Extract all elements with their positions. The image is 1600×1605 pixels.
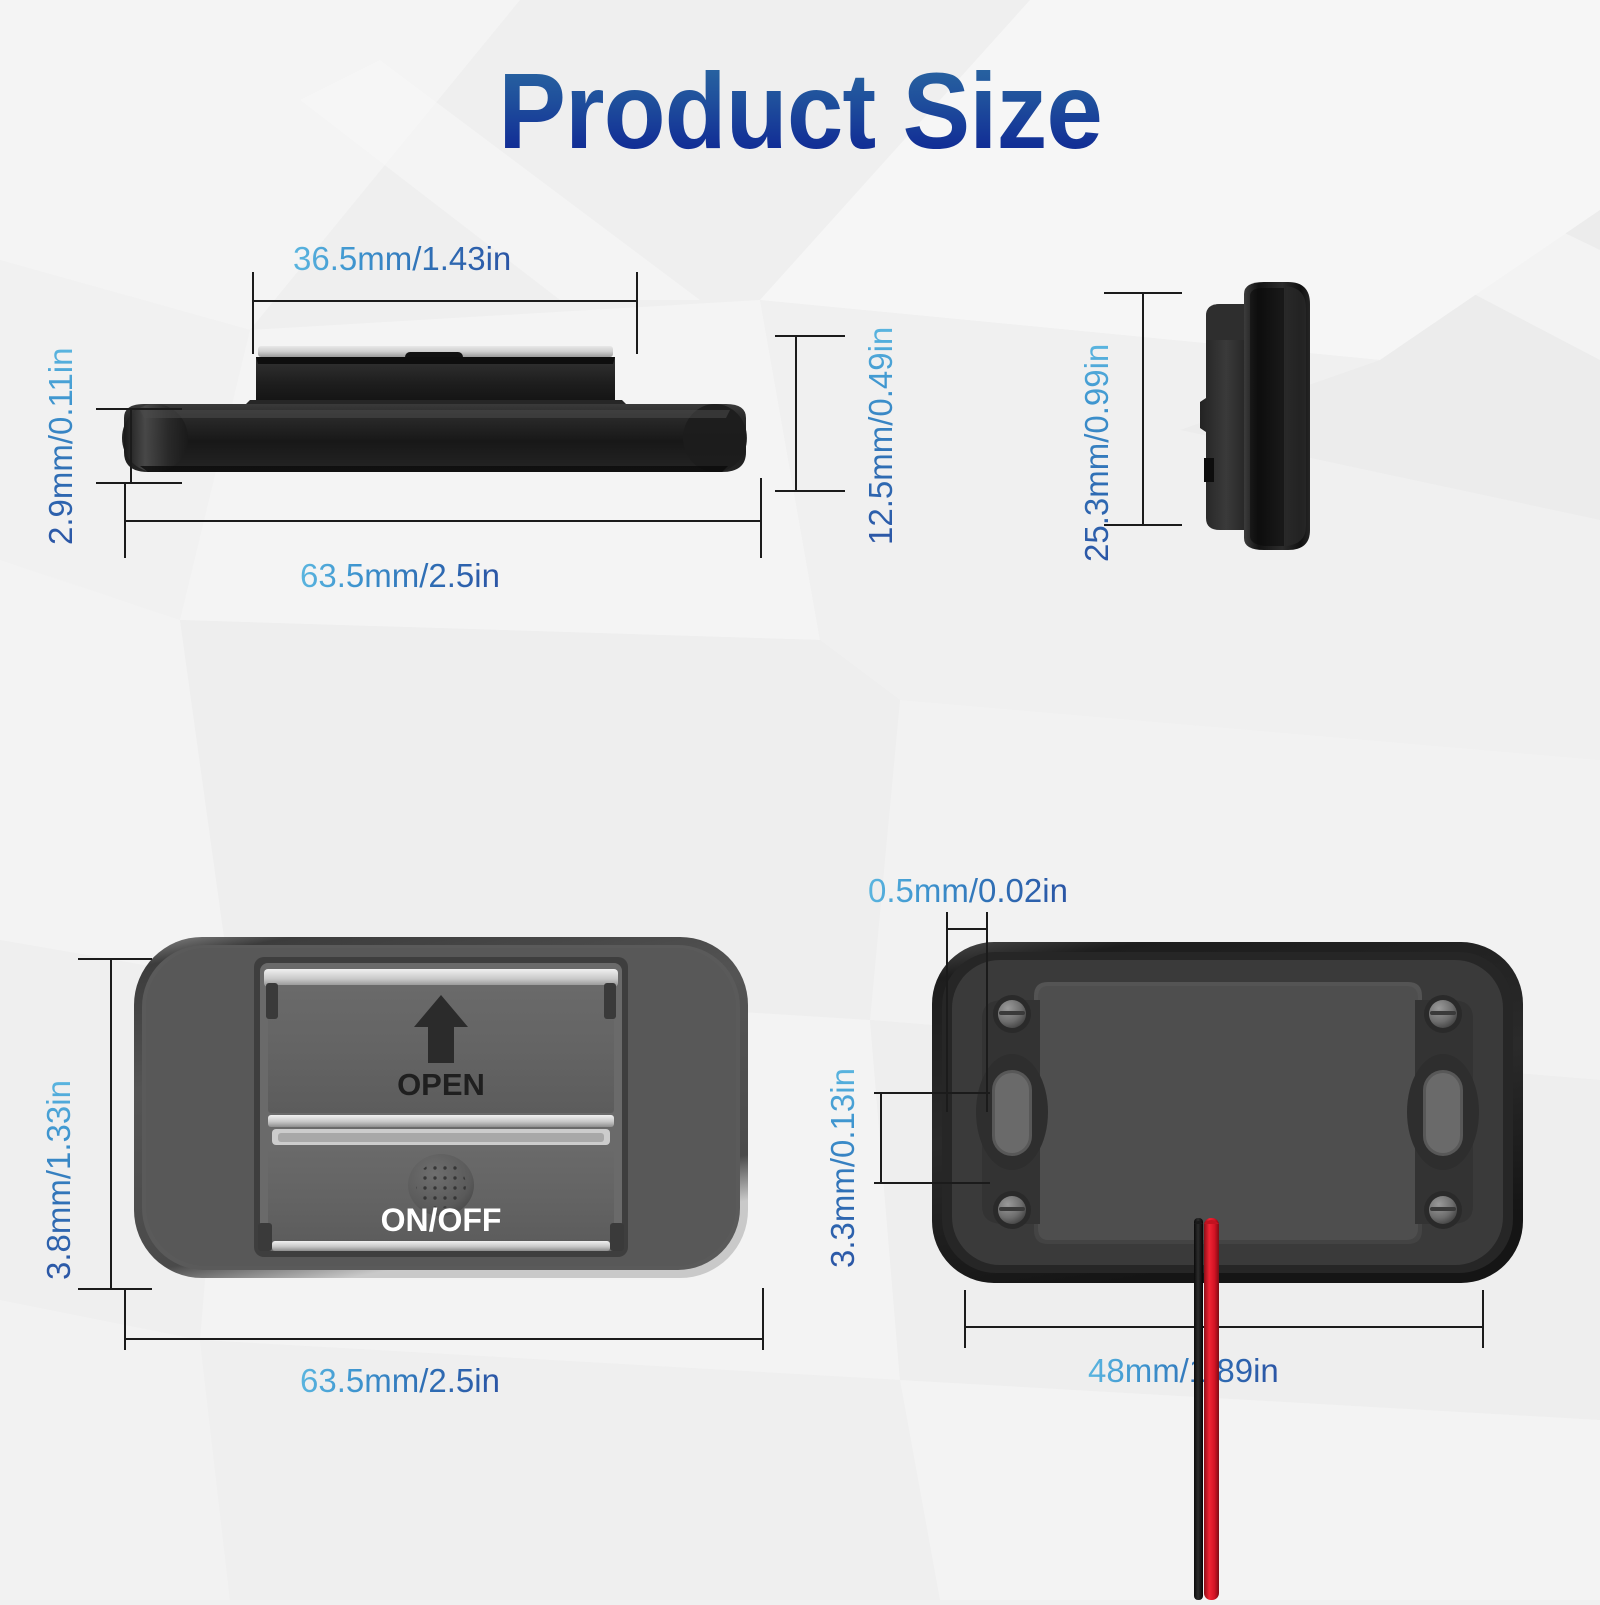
dim-label-tl-right: 12.5mm/0.49in — [862, 327, 900, 545]
background-panel — [0, 0, 1600, 1600]
product-profile-view — [1180, 282, 1320, 552]
dimline-bl-bottom — [124, 1338, 764, 1340]
dim-label-br-left: 3.3mm/0.13in — [824, 1068, 862, 1268]
product-front-view[interactable]: OPEN ON/OFF — [132, 935, 750, 1280]
dimline-ext-tl-bottom-right — [760, 478, 762, 558]
front-view-illustration-icon: OPEN ON/OFF — [132, 935, 750, 1280]
open-label: OPEN — [397, 1067, 485, 1102]
dimline-ext-bl-bottom-right — [762, 1288, 764, 1350]
dim-label-bl-bottom: 63.5mm/2.5in — [300, 1362, 500, 1400]
dimline-tl-top — [252, 300, 638, 302]
onoff-label: ON/OFF — [381, 1202, 502, 1238]
wire-pair-icon — [1188, 1218, 1228, 1600]
dimline-tl-left — [130, 408, 132, 484]
dimline-ext-tl-top-right — [636, 272, 638, 354]
dimline-br-left — [880, 1092, 882, 1184]
dim-label-bl-left: 3.8mm/1.33in — [40, 1080, 78, 1280]
dimline-ext-tl-left-bottom — [96, 482, 182, 484]
power-wires — [1188, 1218, 1228, 1600]
dimline-tl-right — [795, 335, 797, 492]
page-title: Product Size — [0, 48, 1600, 173]
dimline-ext-bl-left-top — [78, 958, 152, 960]
screw-icon — [1424, 995, 1462, 1033]
dimline-ext-br-left-top — [874, 1092, 990, 1094]
dimline-ext-br-left-bottom — [874, 1182, 990, 1184]
dimline-ext-tl-left-top — [96, 408, 182, 410]
dim-label-br-bottom: 48mm/1.89in — [1088, 1352, 1279, 1390]
dimline-ext-br-bottom-left — [964, 1290, 966, 1348]
dimline-ext-bl-left-bottom — [78, 1288, 152, 1290]
screw-icon — [993, 995, 1031, 1033]
dimline-ext-bl-bottom-left — [124, 1288, 126, 1350]
dimline-ext-br-top-left — [946, 912, 948, 1112]
background-facets-icon — [0, 0, 1600, 1600]
dim-label-tl-left: 2.9mm/0.11in — [42, 348, 80, 545]
dimline-br-top — [946, 928, 988, 930]
dimline-ext-tl-right-bottom — [775, 490, 845, 492]
edge-view-illustration-icon — [110, 300, 760, 500]
dim-label-tr-left: 25.3mm/0.99in — [1078, 344, 1116, 562]
dimline-tl-bottom — [124, 520, 762, 522]
dimline-bl-left — [110, 958, 112, 1290]
dimline-ext-br-bottom-right — [1482, 1290, 1484, 1348]
page-title-text: Product Size — [498, 48, 1102, 173]
screw-icon — [993, 1191, 1031, 1229]
dimline-ext-br-top-right — [986, 912, 988, 1112]
product-edge-view — [110, 300, 760, 500]
profile-view-illustration-icon — [1180, 282, 1320, 552]
dimline-ext-tl-top-left — [252, 272, 254, 354]
dim-label-tl-bottom: 63.5mm/2.5in — [300, 557, 500, 595]
screw-icon — [1424, 1191, 1462, 1229]
dimline-ext-tl-right-top — [775, 335, 845, 337]
dimline-tr-left — [1142, 292, 1144, 526]
dim-label-br-top: 0.5mm/0.02in — [868, 872, 1068, 910]
dim-label-tl-top: 36.5mm/1.43in — [293, 240, 511, 278]
